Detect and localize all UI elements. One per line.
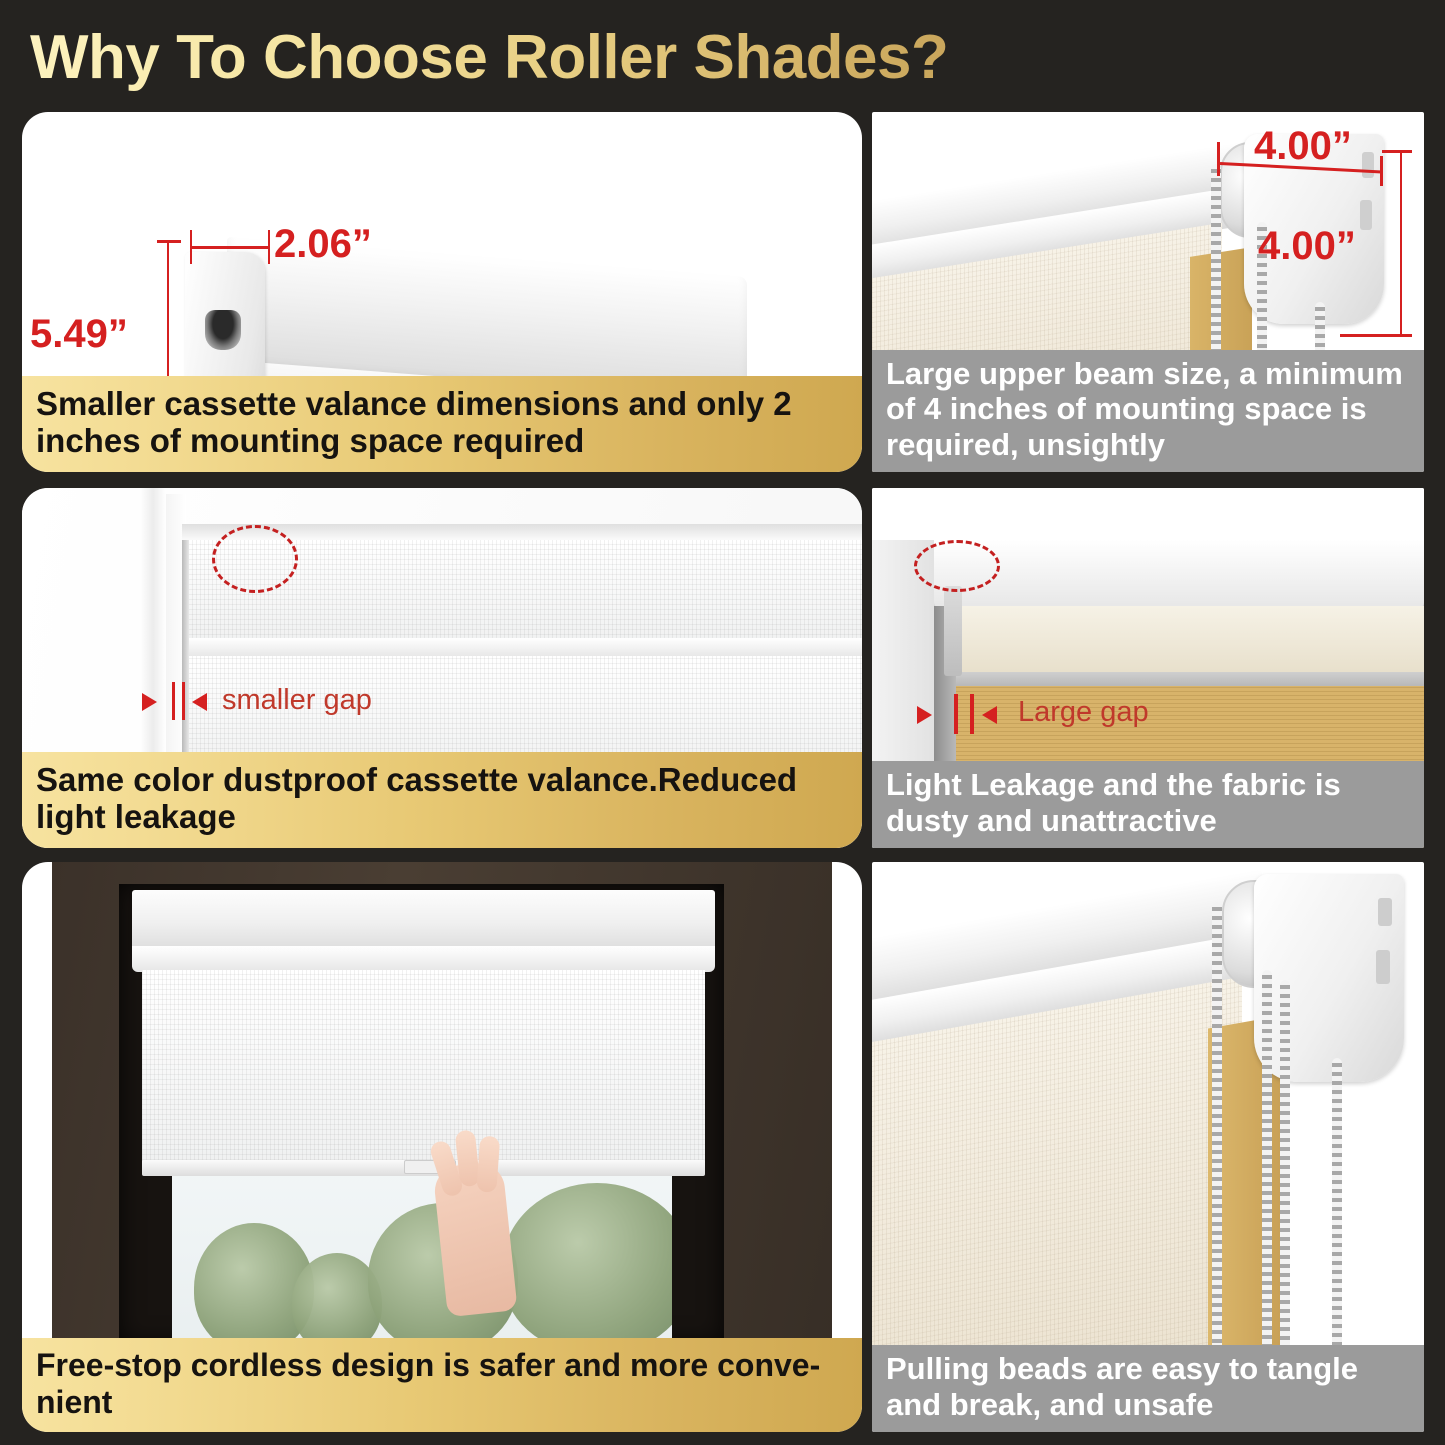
ceiling-strip bbox=[872, 488, 1424, 540]
tree-right bbox=[502, 1183, 672, 1347]
panel-4-caption: Light Leakage and the fabric is dusty an… bbox=[872, 761, 1424, 848]
gap-bound-left bbox=[172, 682, 175, 720]
dimension-label-beam-width: 4.00” bbox=[1254, 124, 1352, 169]
panel-2-caption: Large upper beam size, a minimum of 4 in… bbox=[872, 350, 1424, 472]
cassette-headrail bbox=[132, 890, 715, 952]
window-glass bbox=[172, 1162, 672, 1347]
dimension-label-width: 2.06” bbox=[274, 222, 372, 267]
gap-arrow-right bbox=[982, 706, 997, 724]
bracket-notch-1 bbox=[1378, 898, 1392, 926]
dimension-label-height: 5.49” bbox=[30, 312, 128, 357]
gap-label-smaller: smaller gap bbox=[222, 684, 372, 717]
bracket-notch-2 bbox=[1360, 200, 1372, 230]
panel-6-caption: Pulling beads are easy to tangle and bre… bbox=[872, 1345, 1424, 1432]
gap-arrow-left bbox=[917, 706, 932, 724]
gap-bound-left bbox=[954, 694, 958, 734]
dim-tick-top bbox=[157, 240, 181, 243]
gap-label-large: Large gap bbox=[1018, 696, 1149, 729]
panel-5-caption: Free-stop cordless design is safer and m… bbox=[22, 1338, 862, 1432]
cassette-headrail-lip bbox=[132, 946, 715, 972]
infographic-page: Why To Choose Roller Shades? 2.06” 5.49”… bbox=[0, 0, 1445, 1445]
bracket-clip bbox=[944, 586, 962, 676]
bracket-notch-2 bbox=[1376, 950, 1390, 984]
shade-fabric bbox=[142, 970, 705, 1170]
bracket-slot bbox=[205, 310, 241, 350]
dim-line-right bbox=[1400, 150, 1402, 336]
panel-dustproof-cassette: smaller gap Same color dustproof cassett… bbox=[22, 488, 862, 848]
dim-tick-top-right bbox=[1380, 156, 1383, 186]
gap-arrow-left bbox=[142, 693, 157, 711]
dim-tick-top-left bbox=[1217, 142, 1220, 176]
bead-chain-2 bbox=[1262, 970, 1272, 1372]
panel-pulling-beads: Pulling beads are easy to tangle and bre… bbox=[872, 862, 1424, 1432]
headrail-upper bbox=[934, 540, 1424, 608]
gap-bound-right bbox=[970, 694, 974, 734]
gap-arrow-right bbox=[192, 693, 207, 711]
cassette-divider bbox=[182, 638, 862, 656]
roller-shade-assembly bbox=[132, 890, 715, 1172]
panel-cordless-design: Free-stop cordless design is safer and m… bbox=[22, 862, 862, 1432]
dim-line-width bbox=[190, 246, 270, 249]
highlight-circle-gap bbox=[212, 525, 298, 593]
dim-tick-right-top bbox=[1382, 150, 1412, 153]
bracket-notch-1 bbox=[1362, 152, 1374, 178]
gap-bound-right bbox=[182, 682, 185, 720]
rail-shadow bbox=[934, 672, 1424, 686]
finger-3 bbox=[476, 1136, 500, 1193]
bead-chain-3 bbox=[1280, 980, 1290, 1372]
panel-smaller-cassette: 2.06” 5.49” Smaller cassette valance dim… bbox=[22, 112, 862, 472]
panel-large-beam: 4.00” 4.00” Large upper beam size, a min… bbox=[872, 112, 1424, 472]
panel-3-caption: Same color dustproof cassette valance.Re… bbox=[22, 752, 862, 848]
bead-chain-4 bbox=[1332, 1058, 1342, 1372]
panel-1-caption: Smaller cassette valance dimensions and … bbox=[22, 376, 862, 472]
dimension-label-beam-height: 4.00” bbox=[1258, 224, 1356, 269]
dim-tick-right-bottom bbox=[1340, 334, 1412, 337]
highlight-circle-leak bbox=[914, 540, 1000, 592]
page-title: Why To Choose Roller Shades? bbox=[30, 20, 1130, 95]
headrail-lower bbox=[934, 606, 1424, 672]
bead-chain-1 bbox=[1212, 902, 1222, 1372]
panel-light-leakage: Large gap Light Leakage and the fabric i… bbox=[872, 488, 1424, 848]
